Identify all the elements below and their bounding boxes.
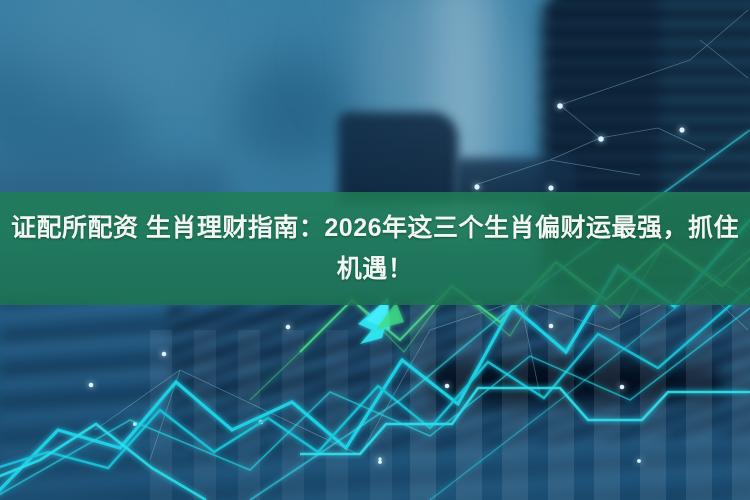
- headline-band: 证配所配资 生肖理财指南：2026年这三个生肖偏财运最强，抓住机遇！: [0, 192, 750, 305]
- banner-image: 证配所配资 生肖理财指南：2026年这三个生肖偏财运最强，抓住机遇！: [0, 0, 750, 500]
- page-title: 证配所配资 生肖理财指南：2026年这三个生肖偏财运最强，抓住机遇！: [0, 208, 750, 290]
